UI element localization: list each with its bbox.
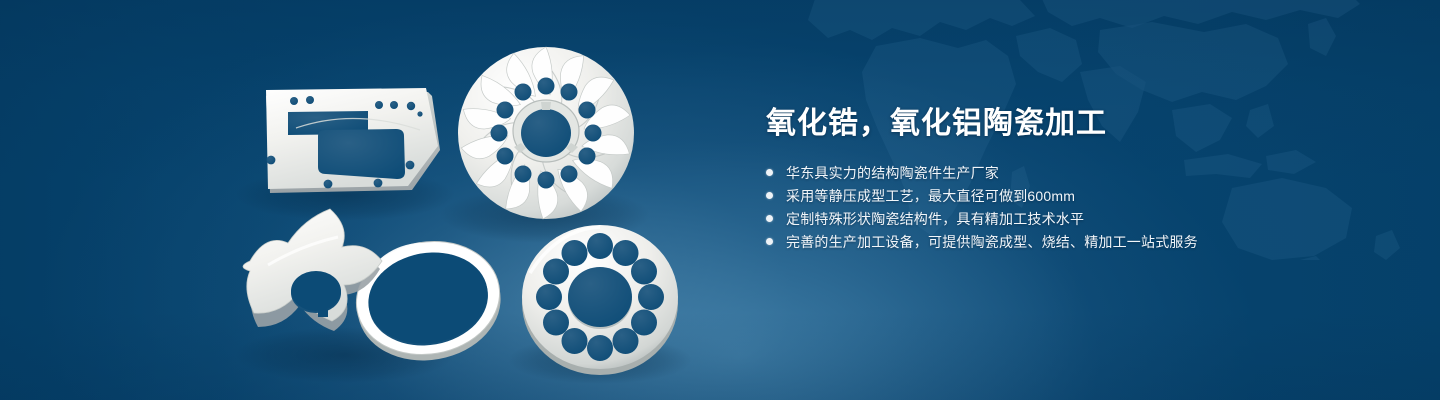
product-banner: 氧化锆，氧化铝陶瓷加工 华东具实力的结构陶瓷件生产厂家 采用等静压成型工艺，最大… (0, 0, 1440, 400)
banner-copy: 氧化锆，氧化铝陶瓷加工 华东具实力的结构陶瓷件生产厂家 采用等静压成型工艺，最大… (766, 104, 1406, 253)
feature-text: 采用等静压成型工艺，最大直径可做到600mm (786, 186, 1075, 206)
list-item: 定制特殊形状陶瓷结构件，具有精加工技术水平 (766, 207, 1406, 230)
list-item: 采用等静压成型工艺，最大直径可做到600mm (766, 184, 1406, 207)
bullet-dot-icon (766, 192, 773, 199)
bullet-dot-icon (766, 238, 773, 245)
list-item: 华东具实力的结构陶瓷件生产厂家 (766, 161, 1406, 184)
feature-list: 华东具实力的结构陶瓷件生产厂家 采用等静压成型工艺，最大直径可做到600mm 定… (766, 161, 1406, 253)
feature-text: 华东具实力的结构陶瓷件生产厂家 (786, 163, 999, 183)
feature-text: 定制特殊形状陶瓷结构件，具有精加工技术水平 (786, 209, 1084, 229)
page-title: 氧化锆，氧化铝陶瓷加工 (766, 104, 1406, 144)
bullet-dot-icon (766, 169, 773, 176)
ceramic-products-image (0, 0, 760, 400)
list-item: 完善的生产加工设备，可提供陶瓷成型、烧结、精加工一站式服务 (766, 230, 1406, 253)
bullet-dot-icon (766, 215, 773, 222)
feature-text: 完善的生产加工设备，可提供陶瓷成型、烧结、精加工一站式服务 (786, 232, 1198, 252)
